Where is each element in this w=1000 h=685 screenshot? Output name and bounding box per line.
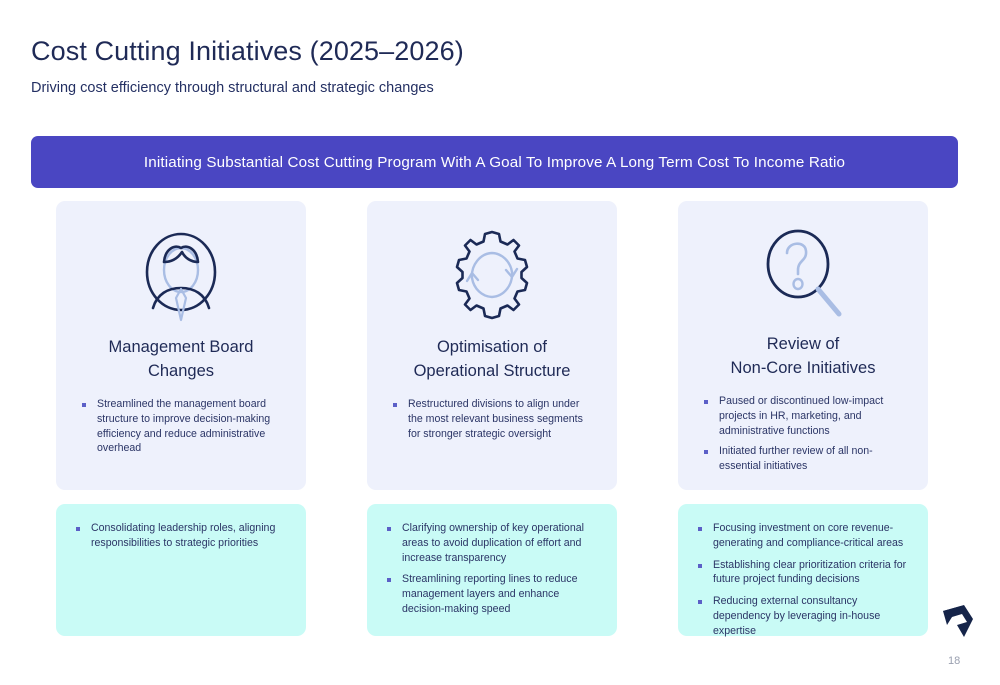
person-avatar-icon — [131, 223, 231, 327]
list-item: Initiated further review of all non-esse… — [704, 444, 908, 474]
columns-container: Management Board Changes Streamlined the… — [56, 201, 928, 636]
card-heading-line2: Non-Core Initiatives — [731, 359, 876, 377]
card-heading-non-core-initiatives: Review of Non-Core Initiatives — [731, 332, 876, 380]
headline-banner-text: Initiating Substantial Cost Cutting Prog… — [144, 154, 845, 171]
page-subtitle: Driving cost efficiency through structur… — [31, 80, 434, 96]
bullet-text: Consolidating leadership roles, aligning… — [91, 521, 288, 551]
list-item: Consolidating leadership roles, aligning… — [76, 521, 288, 551]
slide-canvas: Cost Cutting Initiatives (2025–2026) Dri… — [0, 0, 1000, 685]
list-item: Establishing clear prioritization criter… — [698, 558, 910, 588]
card-top-non-core-initiatives: Review of Non-Core Initiatives Paused or… — [678, 201, 928, 490]
card-heading-management-board: Management Board Changes — [109, 335, 254, 383]
list-item: Clarifying ownership of key operational … — [387, 521, 599, 565]
bottom-bullet-list: Focusing investment on core revenue-gene… — [690, 521, 914, 639]
card-bottom-non-core-initiatives: Focusing investment on core revenue-gene… — [678, 504, 928, 636]
card-heading-line1: Review of — [767, 335, 839, 353]
bullet-text: Initiated further review of all non-esse… — [719, 444, 908, 474]
magnifier-question-icon — [753, 223, 853, 324]
card-heading-line2: Changes — [148, 362, 214, 380]
card-heading-line1: Optimisation of — [437, 338, 547, 356]
bullet-marker-icon — [76, 527, 80, 531]
top-bullet-list: Paused or discontinued low-impact projec… — [694, 394, 912, 480]
page-number: 18 — [948, 655, 988, 667]
bottom-bullet-list: Consolidating leadership roles, aligning… — [68, 521, 292, 551]
page-title: Cost Cutting Initiatives (2025–2026) — [31, 36, 464, 67]
bullet-text: Establishing clear prioritization criter… — [713, 558, 910, 588]
card-heading-line2: Operational Structure — [414, 362, 571, 380]
card-bottom-management-board: Consolidating leadership roles, aligning… — [56, 504, 306, 636]
headline-banner: Initiating Substantial Cost Cutting Prog… — [31, 136, 958, 188]
top-bullet-list: Streamlined the management board structu… — [72, 397, 290, 462]
bullet-marker-icon — [393, 403, 397, 407]
bullet-marker-icon — [704, 400, 708, 404]
bullet-marker-icon — [704, 450, 708, 454]
bullet-text: Restructured divisions to align under th… — [408, 397, 597, 441]
list-item: Paused or discontinued low-impact projec… — [704, 394, 908, 438]
card-heading-line1: Management Board — [109, 338, 254, 356]
top-bullet-list: Restructured divisions to align under th… — [383, 397, 601, 447]
card-heading-operational-structure: Optimisation of Operational Structure — [414, 335, 571, 383]
bullet-marker-icon — [82, 403, 86, 407]
bullet-marker-icon — [698, 600, 702, 604]
bullet-text: Focusing investment on core revenue-gene… — [713, 521, 910, 551]
card-top-operational-structure: Optimisation of Operational Structure Re… — [367, 201, 617, 490]
bullet-marker-icon — [698, 527, 702, 531]
bullet-text: Reducing external consultancy dependency… — [713, 594, 910, 638]
bullet-marker-icon — [387, 578, 391, 582]
list-item: Restructured divisions to align under th… — [393, 397, 597, 441]
gear-refresh-icon — [442, 223, 542, 327]
list-item: Streamlining reporting lines to reduce m… — [387, 572, 599, 616]
bullet-text: Clarifying ownership of key operational … — [402, 521, 599, 565]
column-non-core-initiatives: Review of Non-Core Initiatives Paused or… — [678, 201, 928, 636]
card-top-management-board: Management Board Changes Streamlined the… — [56, 201, 306, 490]
bottom-bullet-list: Clarifying ownership of key operational … — [379, 521, 603, 617]
bullet-marker-icon — [698, 564, 702, 568]
company-logo — [937, 600, 979, 642]
bullet-text: Streamlining reporting lines to reduce m… — [402, 572, 599, 616]
card-bottom-operational-structure: Clarifying ownership of key operational … — [367, 504, 617, 636]
bullet-marker-icon — [387, 527, 391, 531]
list-item: Focusing investment on core revenue-gene… — [698, 521, 910, 551]
bullet-text: Paused or discontinued low-impact projec… — [719, 394, 908, 438]
list-item: Reducing external consultancy dependency… — [698, 594, 910, 638]
bullet-text: Streamlined the management board structu… — [97, 397, 286, 456]
column-operational-structure: Optimisation of Operational Structure Re… — [367, 201, 617, 636]
list-item: Streamlined the management board structu… — [82, 397, 286, 456]
column-management-board: Management Board Changes Streamlined the… — [56, 201, 306, 636]
